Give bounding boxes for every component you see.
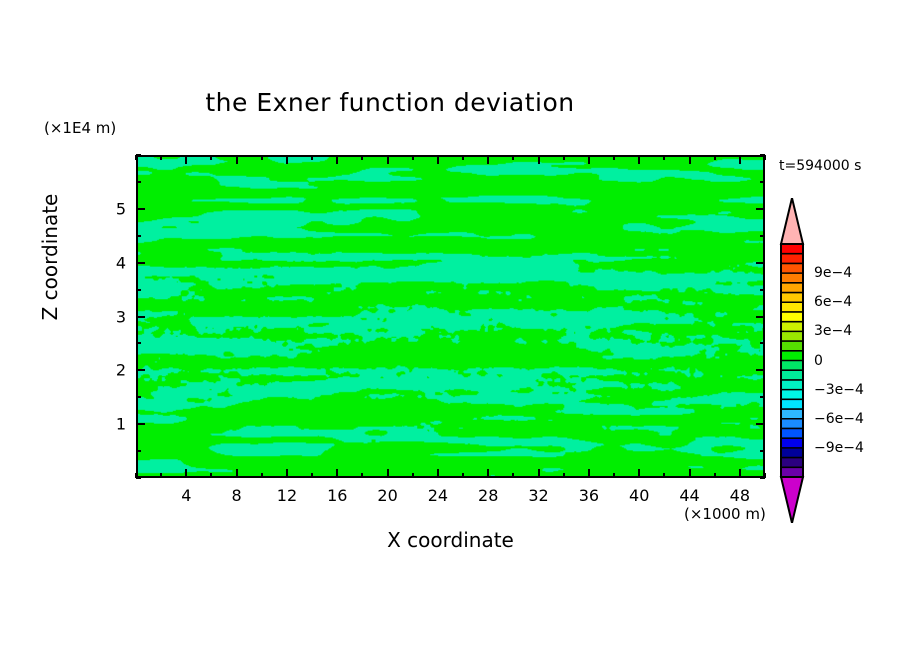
x-tick-label: 12: [277, 486, 297, 505]
y-tick-mark: [756, 423, 765, 425]
y-tick-mark: [760, 235, 765, 237]
x-tick-mark: [462, 155, 464, 160]
x-tick-mark: [336, 469, 338, 478]
x-tick-mark: [412, 155, 414, 160]
x-tick-mark: [336, 155, 338, 164]
x-axis-title: X coordinate: [136, 528, 765, 552]
colorbar-svg: [778, 198, 808, 523]
y-tick-mark: [136, 181, 141, 183]
x-tick-mark: [588, 155, 590, 164]
y-tick-mark: [136, 208, 145, 210]
x-tick-mark: [236, 155, 238, 164]
y-tick-mark: [136, 369, 145, 371]
x-tick-label: 4: [181, 486, 191, 505]
x-tick-label: 48: [730, 486, 750, 505]
y-tick-mark: [760, 154, 765, 156]
colorbar-band: [781, 263, 803, 273]
x-tick-mark: [160, 155, 162, 160]
colorbar-tick-label: 3e−4: [814, 323, 852, 339]
y-tick-mark: [756, 316, 765, 318]
x-tick-label: 36: [579, 486, 599, 505]
colorbar-band: [781, 341, 803, 351]
x-tick-mark: [689, 469, 691, 478]
x-tick-mark: [361, 155, 363, 160]
y-tick-mark: [136, 262, 145, 264]
x-tick-label: 16: [327, 486, 347, 505]
y-tick-label: 4: [96, 253, 126, 272]
y-tick-mark: [136, 342, 141, 344]
x-tick-mark: [739, 155, 741, 164]
contour-field: [138, 157, 763, 476]
colorbar-band: [781, 302, 803, 312]
colorbar-band: [781, 331, 803, 341]
x-tick-mark: [663, 473, 665, 478]
page-title: the Exner function deviation: [0, 88, 780, 117]
x-tick-mark: [739, 469, 741, 478]
x-tick-mark: [437, 469, 439, 478]
colorbar-band: [781, 244, 803, 254]
colorbar-tick-label: −6e−4: [814, 411, 864, 427]
x-tick-mark: [286, 155, 288, 164]
x-tick-mark: [663, 155, 665, 160]
x-tick-mark: [714, 155, 716, 160]
x-tick-label: 32: [528, 486, 548, 505]
x-tick-mark: [210, 155, 212, 160]
colorbar-tick-label: 9e−4: [814, 265, 852, 281]
y-tick-label: 1: [96, 415, 126, 434]
y-tick-mark: [760, 289, 765, 291]
y-tick-mark: [760, 477, 765, 479]
x-tick-label: 24: [428, 486, 448, 505]
colorbar-tick-label: 0: [814, 353, 823, 369]
y-tick-label: 3: [96, 307, 126, 326]
x-tick-mark: [512, 155, 514, 160]
x-tick-mark: [689, 155, 691, 164]
y-tick-mark: [136, 289, 141, 291]
colorbar-band: [781, 438, 803, 448]
x-tick-mark: [588, 469, 590, 478]
y-tick-mark: [136, 450, 141, 452]
x-tick-mark: [613, 473, 615, 478]
x-tick-mark: [236, 469, 238, 478]
x-tick-mark: [210, 473, 212, 478]
colorbar-band: [781, 390, 803, 400]
y-tick-mark: [760, 450, 765, 452]
y-tick-mark: [136, 235, 141, 237]
x-tick-mark: [361, 473, 363, 478]
x-axis-unit-label: (×1000 m): [684, 505, 766, 523]
colorbar-band: [781, 273, 803, 283]
plot-area: [136, 155, 765, 478]
x-tick-mark: [487, 155, 489, 164]
colorbar-tick-label: −9e−4: [814, 440, 864, 456]
colorbar: 9e−46e−43e−40−3e−4−6e−4−9e−4: [778, 198, 808, 523]
x-tick-mark: [311, 473, 313, 478]
colorbar-band: [781, 312, 803, 322]
colorbar-band: [781, 380, 803, 390]
x-tick-mark: [437, 155, 439, 164]
colorbar-over-arrow: [781, 198, 803, 244]
x-tick-label: 44: [679, 486, 699, 505]
y-tick-mark: [136, 477, 141, 479]
x-tick-mark: [487, 469, 489, 478]
y-tick-label: 5: [96, 199, 126, 218]
x-tick-mark: [538, 155, 540, 164]
colorbar-band: [781, 254, 803, 264]
y-tick-mark: [760, 342, 765, 344]
x-tick-mark: [261, 155, 263, 160]
colorbar-band: [781, 361, 803, 371]
x-tick-mark: [311, 155, 313, 160]
y-tick-mark: [756, 262, 765, 264]
colorbar-band: [781, 428, 803, 438]
y-tick-label: 2: [96, 361, 126, 380]
x-tick-mark: [563, 155, 565, 160]
colorbar-band: [781, 351, 803, 361]
colorbar-tick-label: −3e−4: [814, 382, 864, 398]
x-tick-mark: [286, 469, 288, 478]
x-tick-mark: [512, 473, 514, 478]
y-axis-title: Z coordinate: [38, 177, 62, 337]
y-tick-mark: [756, 208, 765, 210]
y-tick-mark: [136, 154, 141, 156]
colorbar-band: [781, 322, 803, 332]
x-tick-mark: [538, 469, 540, 478]
colorbar-band: [781, 458, 803, 468]
x-tick-mark: [185, 469, 187, 478]
x-tick-mark: [638, 155, 640, 164]
y-tick-mark: [136, 396, 141, 398]
colorbar-band: [781, 448, 803, 458]
x-tick-mark: [387, 155, 389, 164]
contour-plot-figure: the Exner function deviation (×1E4 m) t=…: [0, 0, 904, 654]
y-tick-mark: [136, 316, 145, 318]
x-tick-label: 8: [232, 486, 242, 505]
x-tick-label: 40: [629, 486, 649, 505]
x-tick-label: 28: [478, 486, 498, 505]
colorbar-band: [781, 370, 803, 380]
x-tick-mark: [160, 473, 162, 478]
y-axis-unit-label: (×1E4 m): [44, 119, 116, 137]
x-tick-mark: [261, 473, 263, 478]
colorbar-band: [781, 283, 803, 293]
x-tick-mark: [185, 155, 187, 164]
x-tick-mark: [563, 473, 565, 478]
x-tick-mark: [638, 469, 640, 478]
x-tick-mark: [462, 473, 464, 478]
y-tick-mark: [136, 423, 145, 425]
x-tick-label: 20: [377, 486, 397, 505]
x-tick-mark: [714, 473, 716, 478]
time-annotation: t=594000 s: [779, 158, 861, 174]
x-tick-mark: [387, 469, 389, 478]
colorbar-tick-label: 6e−4: [814, 294, 852, 310]
colorbar-band: [781, 409, 803, 419]
colorbar-band: [781, 419, 803, 429]
y-tick-mark: [756, 369, 765, 371]
colorbar-band: [781, 293, 803, 303]
x-tick-mark: [412, 473, 414, 478]
colorbar-under-arrow: [781, 477, 803, 523]
y-tick-mark: [760, 396, 765, 398]
y-tick-mark: [760, 181, 765, 183]
colorbar-band: [781, 399, 803, 409]
x-tick-mark: [613, 155, 615, 160]
